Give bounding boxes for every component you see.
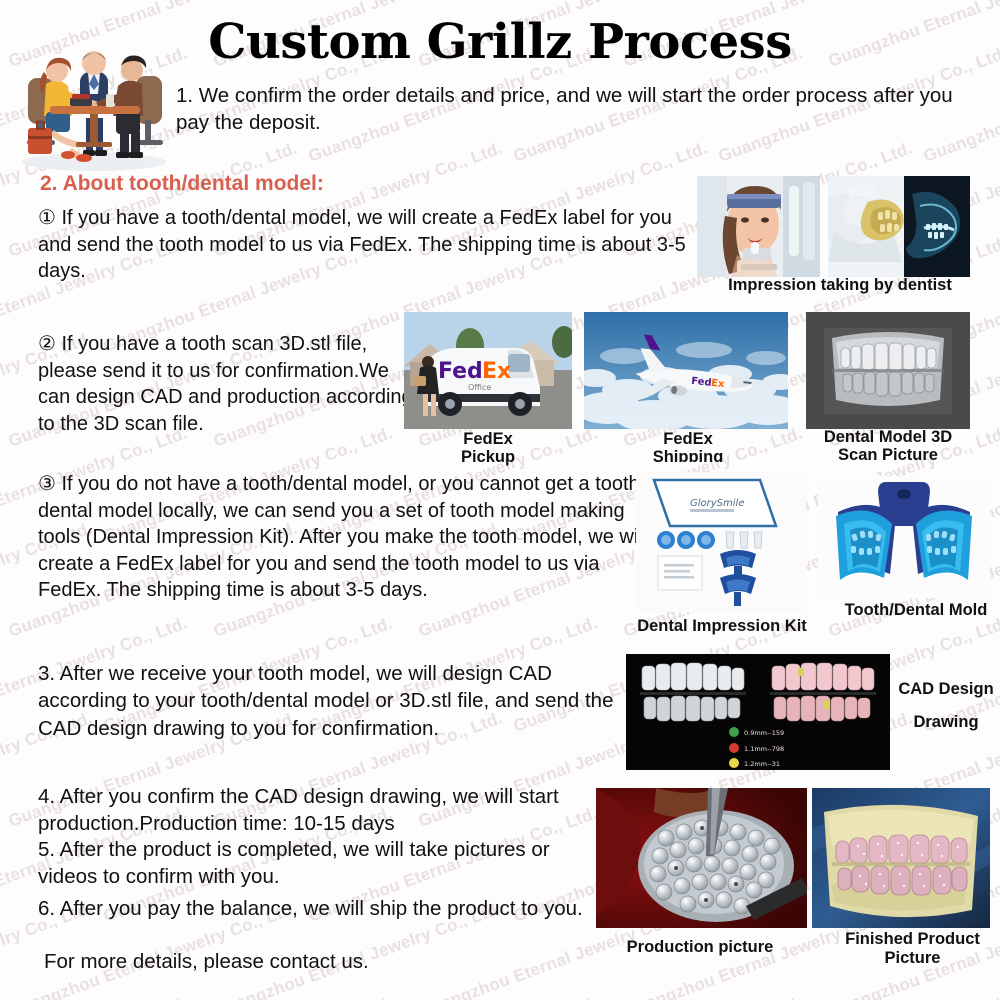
caption-cad-design-line2: Drawing [896,713,996,733]
step-1-text: 1. We confirm the order details and pric… [176,82,956,137]
step-3-text: 3. After we receive your tooth model, we… [38,660,618,742]
caption-impression-taking: Impression taking by dentist [690,276,990,296]
caption-dental-scan-line2: Scan Picture [800,446,976,466]
caption-production-picture: Production picture [600,938,800,958]
svg-text:Ex: Ex [482,359,511,384]
svg-text:1.1mm--798: 1.1mm--798 [744,745,784,753]
caption-fedex-pickup-line2: Pickup [420,448,556,468]
footer-contact-text: For more details, please contact us. [44,948,604,975]
finished-product-photo [812,788,990,928]
dental-3d-scan-photo [806,312,970,429]
fedex-plane-photo: Fed Ex [584,312,788,429]
svg-text:Ex: Ex [711,378,726,390]
dentist-scanner-photo [697,176,820,277]
caption-fedex-pickup-line1: FedEx [420,430,556,450]
production-picture-photo [596,788,807,928]
caption-tooth-mold: Tooth/Dental Mold [836,601,996,621]
caption-finished-product-line2: Picture [830,949,995,969]
caption-finished-product-line1: Finished Product [830,930,995,950]
step-4-text: 4. After you confirm the CAD design draw… [38,783,598,838]
svg-text:GlorySmile: GlorySmile [690,498,744,509]
caption-fedex-shipping-line2: Shipping [620,448,756,462]
caption-dental-scan-line1: Dental Model 3D [800,428,976,448]
svg-text:Fed: Fed [691,376,712,389]
step-6-text: 6. After you pay the balance, we will sh… [38,895,598,922]
svg-text:Office: Office [468,383,491,392]
cad-design-drawing-photo: 0.9mm--159 1.1mm--798 1.2mm--31 [626,654,890,770]
step-2-heading: 2. About tooth/dental model: [40,172,324,196]
caption-impression-kit: Dental Impression Kit [622,617,822,637]
step-2-item-1-text: ① If you have a tooth/dental model, we w… [38,205,698,285]
step-2-item-2-text: ② If you have a tooth scan 3D.stl file, … [38,331,413,437]
custom-grillz-process-infographic: Guangzhou Eternal Jewelry Co., Ltd.Guang… [0,0,1000,1000]
step-2-item-3-text: ③ If you do not have a tooth/dental mode… [38,471,668,604]
dentist-hands-xray-photo [828,176,970,277]
fedex-van-photo: Fed Ex Office [404,312,572,429]
caption-cad-design-line1: CAD Design [896,680,996,700]
step-5-text: 5. After the product is completed, we wi… [38,836,598,891]
svg-text:0.9mm--159: 0.9mm--159 [744,729,784,737]
svg-text:Fed: Fed [438,359,483,384]
svg-text:1.2mm--31: 1.2mm--31 [744,760,780,768]
dental-impression-kit-photo: GlorySmile [636,472,806,612]
meeting-illustration [10,32,178,172]
tooth-dental-mold-photo [818,476,990,598]
caption-fedex-shipping-line1: FedEx [620,430,756,450]
